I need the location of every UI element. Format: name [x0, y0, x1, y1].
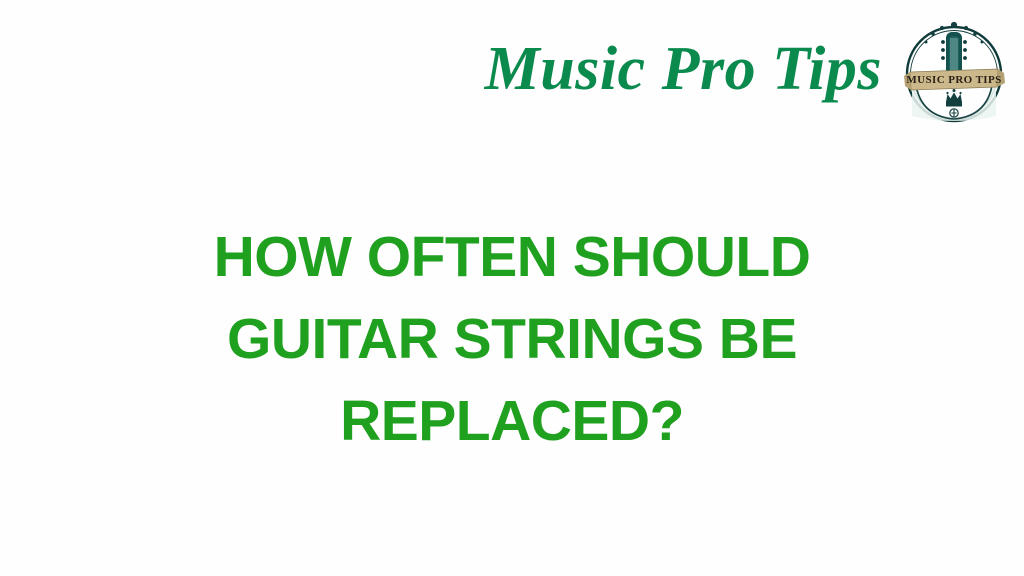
logo-banner: MUSIC PRO TIPS: [904, 69, 1005, 90]
headline-line-1: HOW OFTEN SHOULD: [0, 216, 1024, 298]
brand-header: Music Pro Tips: [485, 14, 1006, 130]
logo-banner-text: MUSIC PRO TIPS: [906, 74, 1001, 86]
brand-wordmark: Music Pro Tips: [485, 38, 882, 106]
brand-logo-badge[interactable]: MUSIC PRO TIPS: [902, 20, 1006, 124]
headline-line-2: GUITAR STRINGS BE: [0, 298, 1024, 380]
empty-content-area: [0, 420, 1024, 576]
slide-canvas: Music Pro Tips: [0, 0, 1024, 576]
